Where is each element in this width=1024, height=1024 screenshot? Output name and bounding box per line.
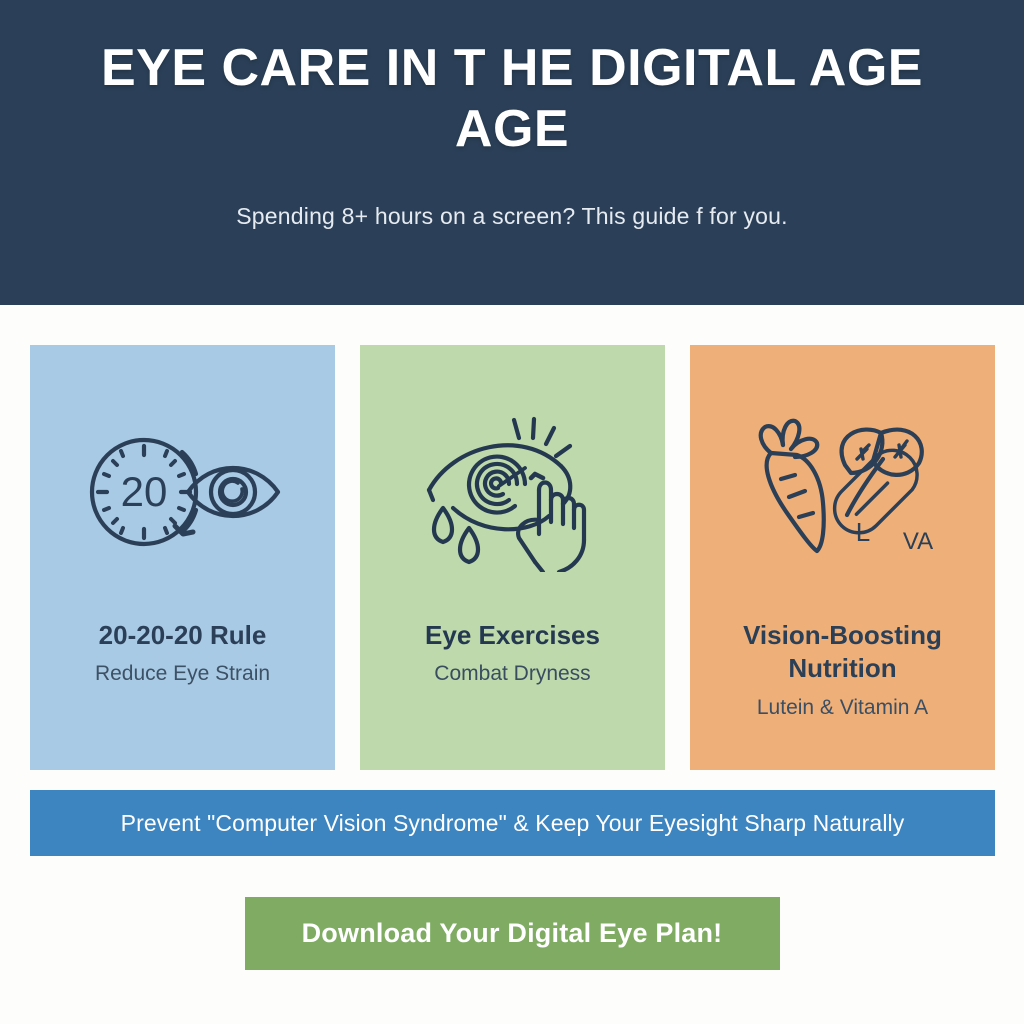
- highlight-banner: Prevent "Computer Vision Syndrome" & Kee…: [30, 790, 995, 856]
- feature-card-20-20-20[interactable]: 20 20-20-20 Rule Reduce Eye Strain: [30, 345, 335, 770]
- clock-20-label: 20: [120, 468, 167, 515]
- card-subtitle: Combat Dryness: [374, 652, 651, 686]
- feature-card-text: 20-20-20 Rule Reduce Eye Strain: [30, 619, 335, 686]
- card-title: Eye Exercises: [374, 619, 651, 652]
- card-title: Vision-Boosting Nutrition: [704, 619, 981, 686]
- feature-card-nutrition[interactable]: L VA Vision-Boosting Nutrition Lutein & …: [690, 345, 995, 770]
- highlight-banner-text: Prevent "Computer Vision Syndrome" & Kee…: [121, 810, 905, 837]
- card-title: 20-20-20 Rule: [44, 619, 321, 652]
- capsule-label-lutein: L: [856, 517, 870, 547]
- page-title-line-1: EYE CARE IN T HE DIGITAL AGE: [101, 39, 923, 97]
- feature-card-text: Eye Exercises Combat Dryness: [360, 619, 665, 686]
- page-title: EYE CARE IN T HE DIGITAL AGE AGE: [30, 38, 994, 161]
- infographic-poster: EYE CARE IN T HE DIGITAL AGE AGE Spendin…: [0, 0, 1024, 1024]
- capsule-label-vitamin-a: VA: [903, 528, 933, 555]
- carrot-leaf-capsule-icon: L VA: [735, 417, 950, 567]
- page-title-line-2: AGE: [455, 100, 569, 158]
- download-plan-button[interactable]: Download Your Digital Eye Plan!: [245, 897, 780, 970]
- card-subtitle: Reduce Eye Strain: [44, 652, 321, 686]
- feature-card-text: Vision-Boosting Nutrition Lutein & Vitam…: [690, 619, 995, 720]
- cta-container: Download Your Digital Eye Plan!: [0, 897, 1024, 970]
- feature-card-eye-exercises[interactable]: Eye Exercises Combat Dryness: [360, 345, 665, 770]
- feature-card-list: 20 20-20-20 Rule Reduce Eye Strain: [30, 345, 995, 770]
- page-subtitle: Spending 8+ hours on a screen? This guid…: [30, 161, 994, 230]
- header-banner: EYE CARE IN T HE DIGITAL AGE AGE Spendin…: [0, 0, 1024, 305]
- clock-20-eye-icon: 20: [78, 417, 288, 567]
- card-subtitle: Lutein & Vitamin A: [704, 686, 981, 720]
- spiral-eye-hand-teardrop-icon: [413, 417, 613, 567]
